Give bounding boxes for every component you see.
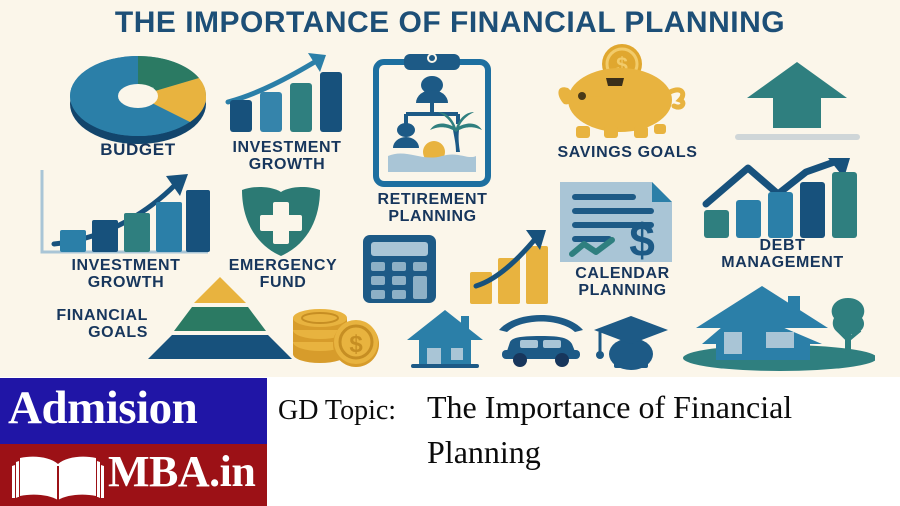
financial-goals-label: FINANCIAL GOALS bbox=[18, 308, 148, 342]
shield-cross-icon bbox=[236, 182, 326, 260]
calculator-icon-group bbox=[362, 234, 437, 304]
car-shield-icon-group bbox=[496, 306, 586, 368]
budget-label: BUDGET bbox=[48, 141, 228, 159]
page-title: THE IMPORTANCE OF FINANCIAL PLANNING bbox=[0, 6, 900, 40]
logo-word-admision: Admision bbox=[8, 381, 267, 435]
slide-root: THE IMPORTANCE OF FINANCIAL PLANNING BUD… bbox=[0, 0, 900, 506]
savings-goals-icon-group: $ bbox=[550, 44, 700, 144]
graduation-cap-icon-group bbox=[592, 308, 670, 370]
graduation-cap-icon bbox=[592, 308, 670, 370]
open-book-icon bbox=[10, 454, 106, 502]
gd-topic-label: GD Topic: bbox=[278, 395, 396, 427]
pyramid-icon bbox=[140, 277, 300, 359]
house-with-tree-icon-group bbox=[680, 282, 875, 372]
retirement-planning-icon-group bbox=[372, 52, 492, 192]
svg-text:$: $ bbox=[349, 331, 363, 358]
budget-icon-group bbox=[58, 48, 218, 148]
calculator-icon bbox=[362, 234, 437, 304]
svg-text:$: $ bbox=[629, 214, 655, 266]
house-icon bbox=[405, 308, 485, 370]
investment-growth-left-icon-group bbox=[36, 168, 211, 260]
invoice-dollar-icon: $ bbox=[556, 178, 676, 266]
coin-stack-icon-group: $ bbox=[290, 300, 382, 368]
bar-chart-zigzag-icon bbox=[700, 158, 865, 238]
site-logo[interactable]: Admision MBA.in bbox=[0, 378, 267, 506]
up-arrow-icon bbox=[735, 58, 860, 140]
calendar-planning-icon-group: $ bbox=[556, 178, 676, 266]
gold-bar-chart-icon-group bbox=[466, 228, 556, 304]
investment-growth-top-label: INVESTMENT GROWTH bbox=[212, 140, 362, 174]
emergency-fund-icon-group bbox=[236, 182, 326, 260]
house-with-tree-icon bbox=[680, 282, 875, 372]
infographic-panel: THE IMPORTANCE OF FINANCIAL PLANNING BUD… bbox=[0, 0, 900, 377]
logo-word-mbain: MBA.in bbox=[108, 446, 255, 497]
clipboard-retirement-icon bbox=[372, 52, 492, 192]
debt-management-icon-group bbox=[700, 158, 865, 238]
coin-stack-icon: $ bbox=[290, 300, 382, 368]
piggy-bank-icon: $ bbox=[550, 44, 700, 144]
gold-bar-chart-icon bbox=[466, 228, 556, 304]
pie-chart-icon bbox=[58, 48, 218, 148]
bar-chart-arrow-icon bbox=[222, 50, 352, 134]
savings-goals-label: SAVINGS GOALS bbox=[540, 145, 715, 162]
up-arrow-icon-group bbox=[735, 58, 860, 140]
house-icon-group bbox=[405, 308, 485, 370]
gd-topic-text: The Importance of Financial Planning bbox=[427, 385, 877, 476]
financial-goals-icon-group bbox=[140, 277, 300, 359]
retirement-planning-label: RETIREMENT PLANNING bbox=[360, 192, 505, 226]
car-shield-icon bbox=[496, 306, 586, 368]
bar-chart-curve-arrow-icon bbox=[36, 168, 211, 260]
investment-growth-top-icon-group bbox=[222, 50, 352, 134]
debt-management-label: DEBT MANAGEMENT bbox=[690, 238, 875, 272]
